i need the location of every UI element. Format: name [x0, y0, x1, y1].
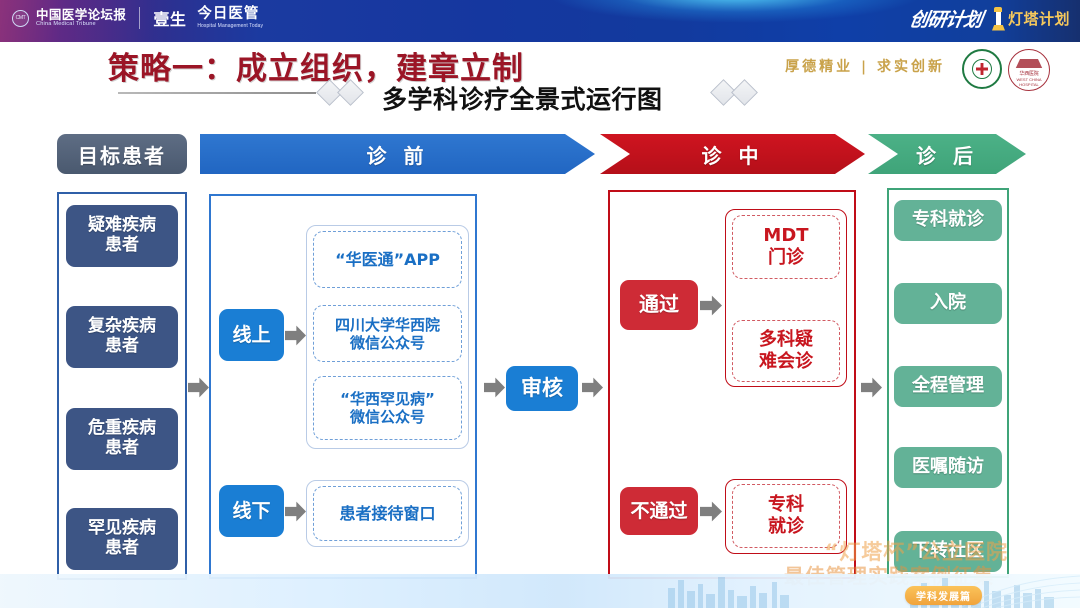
jinri-yiguan-cn: 今日医管: [197, 7, 263, 22]
dengta-plan-logo: 灯塔计划: [992, 7, 1070, 31]
pass-label: 通过: [620, 280, 698, 330]
cityscape-silhouette-icon: [660, 574, 1080, 608]
arrow-review-to-midvisit-icon: [582, 376, 603, 399]
patient-type-2: 复杂疾病患者: [66, 306, 178, 368]
phase-banner-row: 目标患者 诊 前 诊 中 诊 后: [0, 134, 1080, 180]
banner-pre-visit: 诊 前: [200, 134, 595, 174]
header-program-logos: 创研计划 灯塔计划: [910, 5, 1070, 32]
online-label: 线上: [219, 309, 284, 361]
pass-outcome-2: 多科疑难会诊: [732, 320, 840, 382]
arrow-midvisit-to-postvisit-icon: [861, 376, 882, 399]
slide-subtitle: 多学科诊疗全景式运行图: [382, 80, 663, 116]
cmt-seal-icon: CMT: [12, 10, 29, 27]
post-visit-step-1: 专科就诊: [894, 200, 1002, 241]
online-channel-2: 四川大学华西院微信公众号: [313, 305, 462, 362]
cmt-brand-en: China Medical Tribune: [36, 22, 126, 28]
diamond-ornament-right: [714, 83, 754, 102]
header-brand-group: CMT 中国医学论坛报 China Medical Tribune 壹生 今日医…: [12, 6, 263, 30]
online-channel-1: “华医通”APP: [313, 231, 462, 288]
arrow-patients-to-previsit-icon: [188, 376, 209, 399]
bottom-watermark: “灯塔杯”公立医院 最佳管理实践案例征集: [0, 536, 1080, 608]
banner-target-patients: 目标患者: [57, 134, 187, 174]
slide-root: CMT 中国医学论坛报 China Medical Tribune 壹生 今日医…: [0, 0, 1080, 608]
hospital-seal-icon: 华西医院 WEST CHINA HOSPITAL: [1008, 49, 1050, 91]
hospital-tagline: 厚德精业 | 求实创新: [785, 56, 945, 76]
cmt-brand: 中国医学论坛报 China Medical Tribune: [36, 8, 126, 28]
jinri-yiguan-brand: 今日医管 Hospital Management Today: [197, 7, 263, 29]
medical-association-seal-icon: [962, 49, 1002, 89]
lighthouse-icon: [992, 7, 1005, 31]
patient-type-1: 疑难疾病患者: [66, 205, 178, 267]
chuangyan-plan-label: 创研计划: [908, 5, 984, 32]
offline-label: 线下: [219, 485, 284, 537]
banner-mid-visit: 诊 中: [600, 134, 865, 174]
chuangyan-plan-logo: 创研计划: [910, 5, 982, 32]
hospital-seal-sublabel: WEST CHINA HOSPITAL: [1009, 77, 1049, 87]
post-visit-step-2: 入院: [894, 283, 1002, 324]
jinri-yiguan-en: Hospital Management Today: [197, 24, 263, 29]
online-channel-3: “华西罕见病”微信公众号: [313, 376, 462, 440]
fail-label: 不通过: [620, 487, 698, 535]
dengta-plan-label: 灯塔计划: [1008, 8, 1070, 29]
header-bar: CMT 中国医学论坛报 China Medical Tribune 壹生 今日医…: [0, 0, 1080, 42]
offline-channel-1: 患者接待窗口: [313, 486, 462, 541]
arrow-previsit-to-review-icon: [484, 376, 505, 399]
diamond-ornament-left: [320, 83, 360, 102]
cmt-brand-cn: 中国医学论坛报: [36, 8, 126, 21]
hospital-seal-label: 华西医院: [1009, 70, 1049, 77]
banner-post-visit: 诊 后: [868, 134, 1026, 174]
post-visit-step-4: 医嘱随访: [894, 447, 1002, 488]
header-divider: [139, 7, 140, 29]
post-visit-step-3: 全程管理: [894, 366, 1002, 407]
pass-outcome-1: MDT门诊: [732, 215, 840, 279]
title-rule: [118, 92, 316, 94]
watermark-badge: 学科发展篇: [905, 586, 982, 605]
review-node: 审核: [506, 366, 578, 411]
patient-type-3: 危重疾病患者: [66, 408, 178, 470]
yisheng-logo: 壹生: [153, 6, 186, 30]
